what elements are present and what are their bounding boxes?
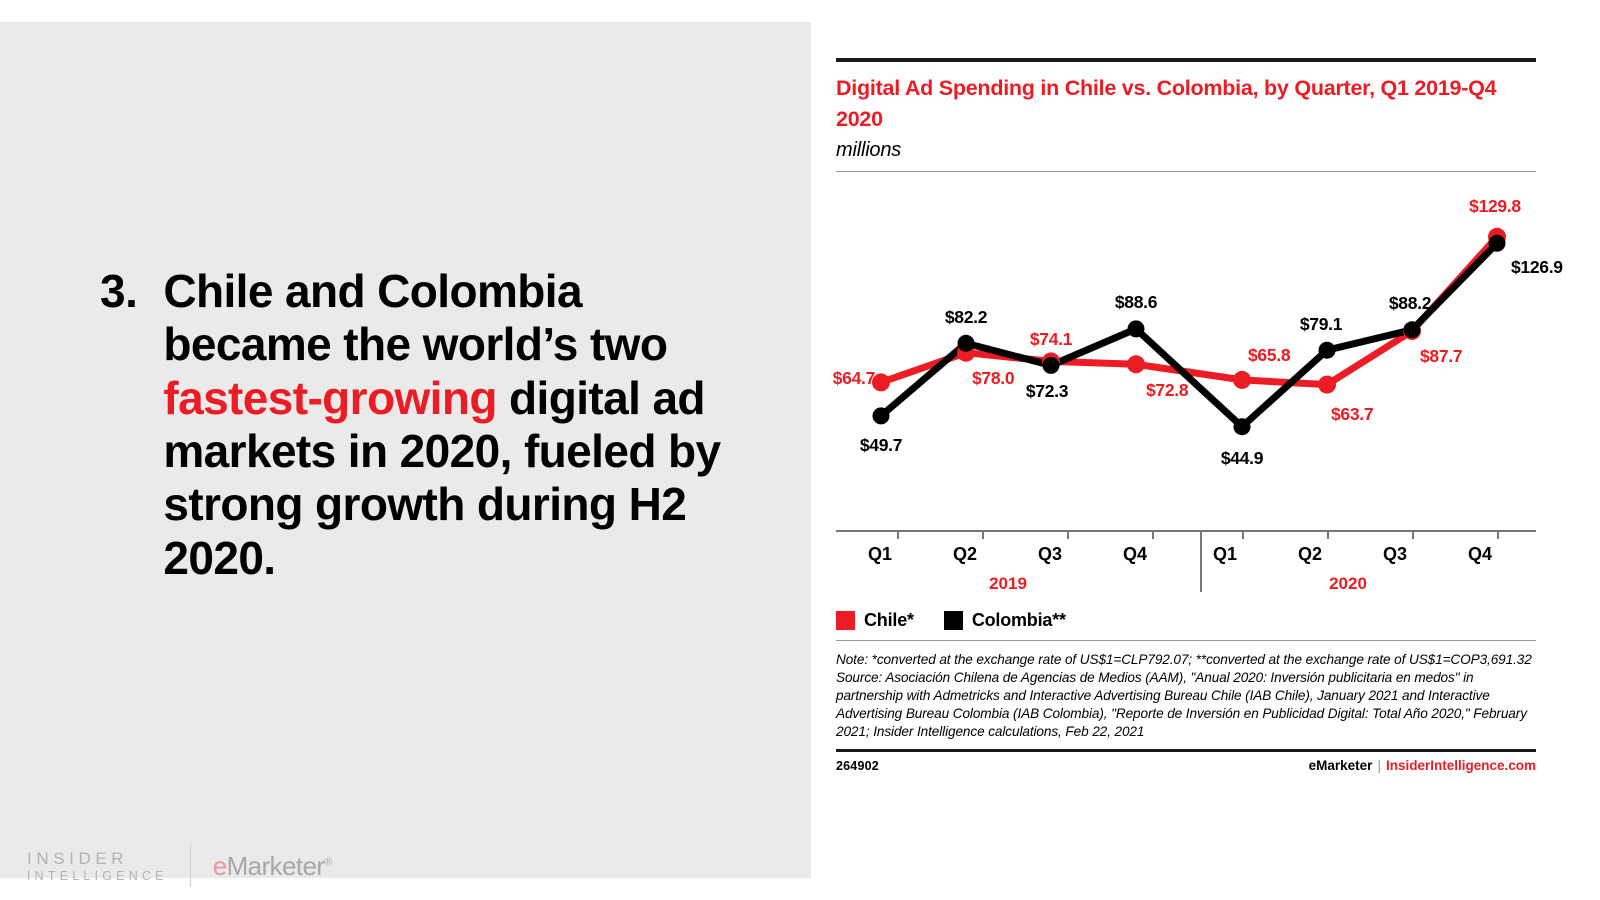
axis-tick — [982, 530, 984, 539]
left-panel: 3. Chile and Colombia became the world’s… — [0, 22, 811, 878]
data-point — [873, 408, 890, 425]
notes-rule — [836, 640, 1536, 641]
axis-tick — [1327, 530, 1329, 539]
registered-mark: ® — [324, 856, 332, 868]
headline-number: 3. — [100, 265, 137, 318]
headline-text-part1: Chile and Colombia became the world’s tw… — [163, 265, 667, 370]
plot-area: $64.7$78.0$74.1$72.8$65.8$63.7$87.7$129.… — [836, 172, 1536, 530]
headline-highlight: fastest-growing — [163, 372, 496, 424]
footer-brand-name: eMarketer — [1309, 758, 1373, 773]
chart-title: Digital Ad Spending in Chile vs. Colombi… — [836, 73, 1536, 134]
data-label: $78.0 — [972, 368, 1014, 389]
footer-brand: eMarketer|InsiderIntelligence.com — [1309, 758, 1536, 773]
emarketer-e: e — [213, 851, 227, 881]
footer-row: 264902 eMarketer|InsiderIntelligence.com — [836, 758, 1536, 773]
data-point — [1318, 376, 1336, 394]
insider-line2: INTELLIGENCE — [27, 869, 168, 885]
data-point — [958, 335, 975, 352]
legend-label-chile: Chile* — [864, 610, 914, 631]
axis-tick — [897, 530, 899, 539]
chart-card: Digital Ad Spending in Chile vs. Colombi… — [836, 58, 1536, 828]
axis-label-q3-2020: Q3 — [1383, 544, 1407, 565]
axis-label-q4-2020: Q4 — [1468, 544, 1492, 565]
footer-rule — [836, 749, 1536, 752]
data-label: $72.8 — [1146, 380, 1188, 401]
data-point — [1489, 235, 1506, 252]
year-divider — [1200, 530, 1202, 592]
legend-swatch-chile — [836, 611, 855, 630]
data-label: $63.7 — [1331, 404, 1373, 425]
data-label: $129.8 — [1469, 196, 1521, 217]
axis-label-q2-2020: Q2 — [1298, 544, 1322, 565]
data-label: $87.7 — [1420, 346, 1462, 367]
chart-id: 264902 — [836, 759, 879, 773]
data-label: $82.2 — [945, 307, 987, 328]
x-axis-line — [836, 530, 1536, 532]
data-point — [1319, 342, 1336, 359]
legend: Chile* Colombia** — [836, 610, 1536, 631]
legend-swatch-colombia — [944, 611, 963, 630]
data-point — [1127, 356, 1145, 374]
source-text: Source: Asociación Chilena de Agencias d… — [836, 669, 1536, 740]
data-label: $74.1 — [1030, 329, 1072, 350]
legend-item-colombia[interactable]: Colombia** — [944, 610, 1066, 631]
legend-item-chile[interactable]: Chile* — [836, 610, 914, 631]
axis-tick — [1152, 530, 1154, 539]
data-label: $49.7 — [860, 435, 902, 456]
axis-tick — [1497, 530, 1499, 539]
data-point — [1234, 419, 1251, 436]
year-label-2019: 2019 — [989, 574, 1027, 594]
axis-tick — [1412, 530, 1414, 539]
insider-intelligence-logo: INSIDER INTELLIGENCE eMarketer® — [27, 845, 332, 887]
footer-separator: | — [1377, 758, 1381, 773]
data-label: $88.2 — [1389, 293, 1431, 314]
axis-label-q1-2019: Q1 — [868, 544, 892, 565]
data-label: $72.3 — [1026, 381, 1068, 402]
insider-wordmark: INSIDER INTELLIGENCE — [27, 848, 168, 885]
data-label: $44.9 — [1221, 448, 1263, 469]
emarketer-wordmark: eMarketer® — [213, 851, 332, 882]
axis-label-q3-2019: Q3 — [1038, 544, 1062, 565]
footer-site-link[interactable]: InsiderIntelligence.com — [1386, 758, 1536, 773]
logo-divider — [190, 845, 191, 887]
data-point — [1233, 371, 1251, 389]
notes-block: Note: *converted at the exchange rate of… — [836, 651, 1536, 740]
headline-block: 3. Chile and Colombia became the world’s… — [100, 265, 740, 585]
data-label: $79.1 — [1300, 314, 1342, 335]
x-axis: Q1Q2Q3Q4Q1Q2Q3Q420192020 — [836, 530, 1536, 608]
insider-line1: INSIDER — [27, 848, 168, 869]
data-point — [1128, 321, 1145, 338]
chart-subtitle: millions — [836, 139, 1536, 162]
top-rule — [836, 58, 1536, 62]
data-label: $64.7 — [833, 368, 875, 389]
data-point — [1043, 357, 1060, 374]
headline-text: Chile and Colombia became the world’s tw… — [163, 265, 740, 585]
data-label: $126.9 — [1511, 257, 1563, 278]
data-label: $88.6 — [1115, 292, 1157, 313]
emarketer-rest: Marketer — [227, 851, 325, 881]
axis-tick — [1242, 530, 1244, 539]
axis-label-q4-2019: Q4 — [1123, 544, 1147, 565]
axis-tick — [1067, 530, 1069, 539]
axis-label-q2-2019: Q2 — [953, 544, 977, 565]
note-text: Note: *converted at the exchange rate of… — [836, 651, 1536, 669]
data-point — [1404, 322, 1421, 339]
data-label: $65.8 — [1248, 345, 1290, 366]
axis-label-q1-2020: Q1 — [1213, 544, 1237, 565]
year-label-2020: 2020 — [1329, 574, 1367, 594]
legend-label-colombia: Colombia** — [972, 610, 1066, 631]
